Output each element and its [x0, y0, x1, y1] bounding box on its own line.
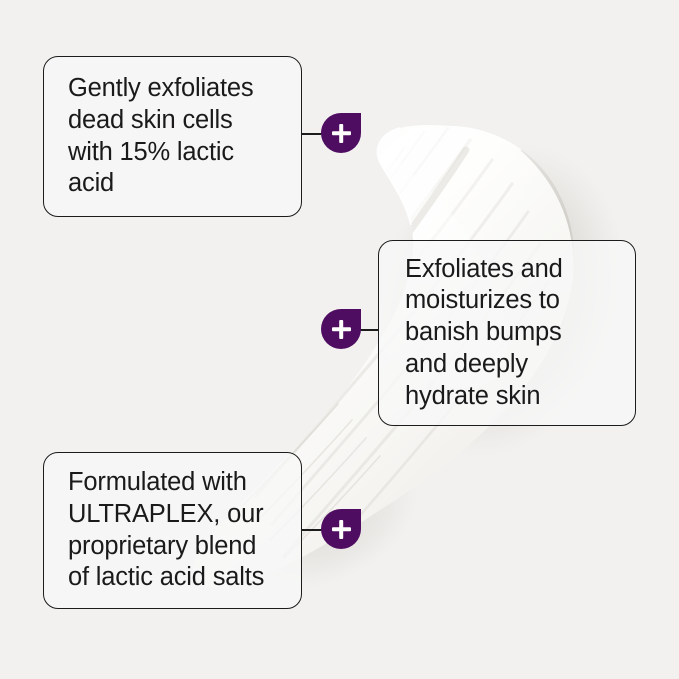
- plus-icon: [332, 520, 351, 539]
- callout-box-1: Gently exfoliates dead skin cells with 1…: [43, 56, 302, 217]
- callout-box-2: Exfoliates and moisturizes to banish bum…: [378, 240, 636, 426]
- infographic-canvas: Gently exfoliates dead skin cells with 1…: [0, 0, 679, 679]
- callout-text-1: Gently exfoliates dead skin cells with 1…: [44, 73, 273, 200]
- plus-icon: [332, 320, 351, 339]
- callout-box-3: Formulated with ULTRAPLEX, our proprieta…: [43, 452, 302, 609]
- connector-line-3: [301, 529, 323, 531]
- plus-icon: [332, 124, 351, 143]
- callout-text-3: Formulated with ULTRAPLEX, our proprieta…: [44, 467, 284, 594]
- plus-badge-2[interactable]: [321, 309, 361, 349]
- plus-badge-3[interactable]: [321, 509, 361, 549]
- plus-badge-1[interactable]: [321, 113, 361, 153]
- callout-text-2: Exfoliates and moisturizes to banish bum…: [379, 254, 583, 413]
- connector-line-1: [301, 133, 323, 135]
